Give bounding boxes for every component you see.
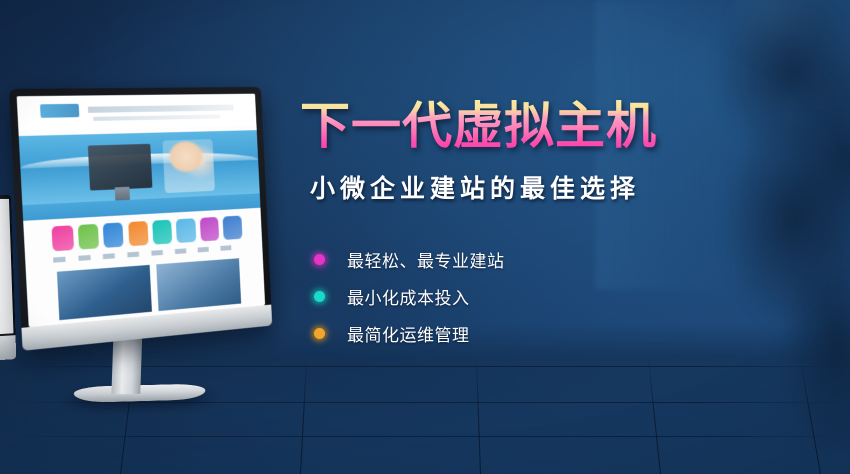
list-item: 最小化成本投入 — [308, 278, 720, 315]
banner-text-block: 下一代虚拟主机 小微企业建站的最佳选择 最轻松、最专业建站最小化成本投入最简化运… — [300, 100, 720, 352]
bullet-dot — [314, 254, 325, 265]
hero-banner: 下一代虚拟主机 小微企业建站的最佳选择 最轻松、最专业建站最小化成本投入最简化运… — [0, 0, 850, 474]
list-item: 最简化运维管理 — [308, 315, 720, 352]
feature-label: 最小化成本投入 — [347, 284, 470, 309]
feature-label: 最轻松、最专业建站 — [347, 247, 505, 272]
bullet-dot — [314, 291, 325, 302]
feature-list: 最轻松、最专业建站最小化成本投入最简化运维管理 — [308, 241, 720, 352]
bullet-dot — [314, 328, 325, 339]
feature-label: 最简化运维管理 — [347, 321, 470, 346]
bullet-dot-icon — [308, 249, 330, 271]
list-item: 最轻松、最专业建站 — [308, 241, 720, 278]
page-subtitle: 小微企业建站的最佳选择 — [310, 169, 720, 205]
bullet-dot-icon — [308, 286, 330, 308]
bullet-dot-icon — [308, 323, 330, 345]
page-title: 下一代虚拟主机 — [300, 100, 720, 153]
